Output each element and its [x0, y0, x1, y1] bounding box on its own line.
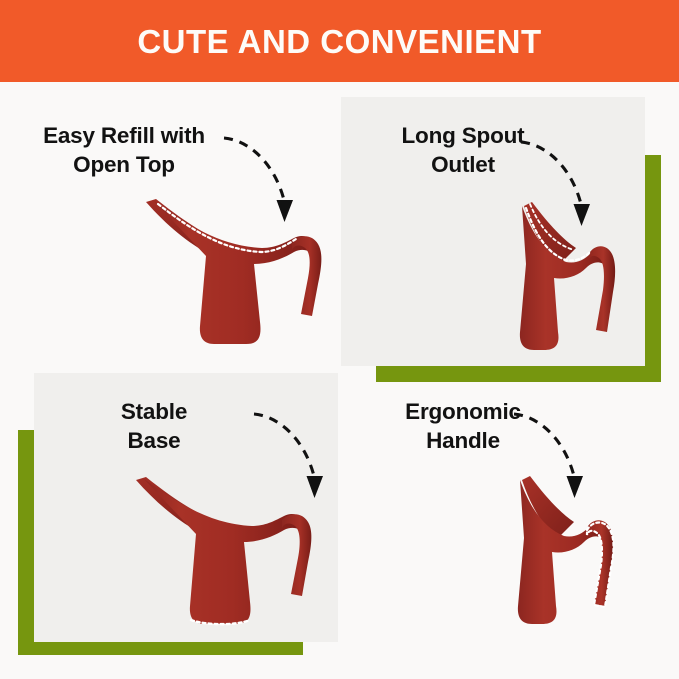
product-image-watering-can-side-view	[142, 192, 340, 354]
feature-title-ergonomic-handle: Ergonomic Handle	[357, 398, 569, 456]
feature-title-stable-base: Stable Base	[48, 398, 260, 456]
product-image-watering-can-front-view	[492, 192, 632, 368]
feature-long-spout: Long Spout Outlet	[357, 122, 569, 180]
product-image-watering-can-front-view	[492, 468, 642, 634]
header-banner: CUTE AND CONVENIENT	[0, 0, 679, 82]
feature-stable-base: Stable Base	[48, 398, 260, 456]
accent-bar-top-right-horizontal	[376, 366, 661, 382]
feature-ergonomic-handle: Ergonomic Handle	[357, 398, 569, 456]
accent-bar-bottom-left-vertical	[18, 430, 34, 655]
feature-easy-refill: Easy Refill with Open Top	[18, 122, 230, 180]
accent-bar-top-right-vertical	[645, 155, 661, 382]
feature-title-long-spout: Long Spout Outlet	[357, 122, 569, 180]
feature-title-easy-refill: Easy Refill with Open Top	[18, 122, 230, 180]
infographic-canvas: CUTE AND CONVENIENT Easy Refill with Ope…	[0, 0, 679, 679]
product-image-watering-can-side-view	[132, 462, 330, 638]
banner-title: CUTE AND CONVENIENT	[137, 25, 541, 58]
